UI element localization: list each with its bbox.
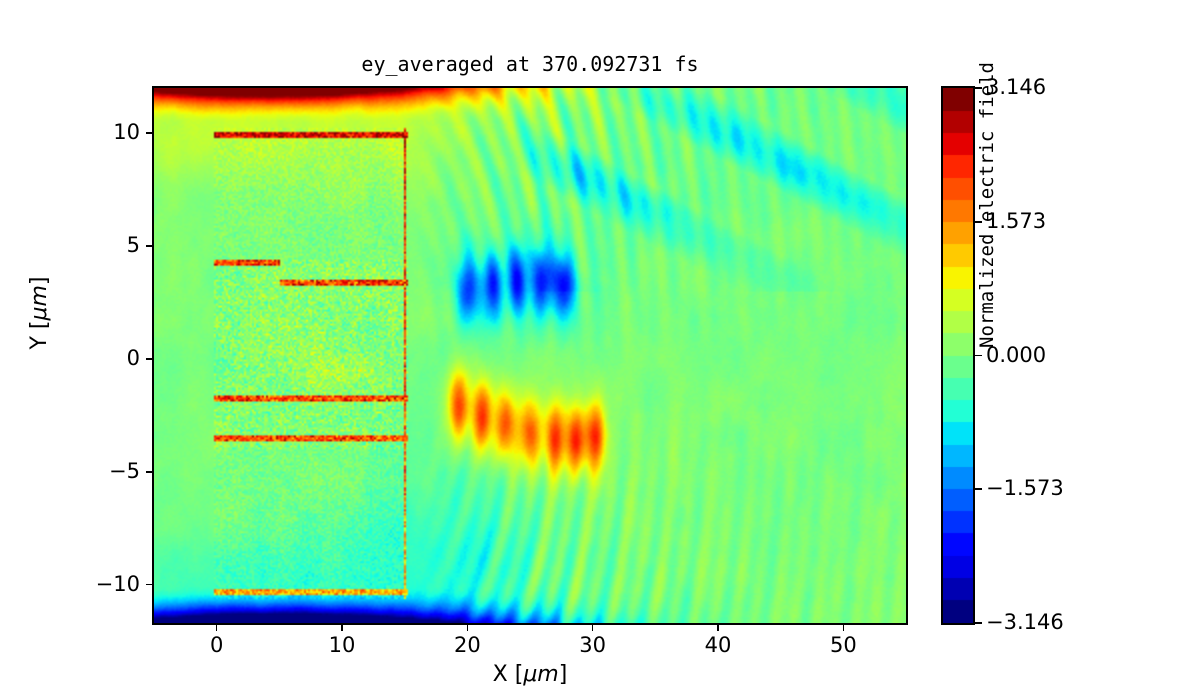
x-tick-label: 20 [427,633,507,658]
x-axis-label-suffix: ] [559,662,568,687]
colorbar-tick-mark [975,622,982,624]
x-tick-label: 10 [302,633,382,658]
colorbar-tick-label: −1.573 [986,476,1064,501]
field-heatmap-image[interactable] [154,88,906,623]
y-tick-mark [146,471,152,473]
y-axis-label-prefix: Y [ [27,321,52,350]
colorbar-tick-label: −3.146 [986,610,1064,635]
x-axis-label-prefix: X [ [493,662,524,687]
x-tick-label: 30 [553,633,633,658]
y-axis-label-suffix: ] [27,276,52,285]
x-tick-mark [341,625,343,631]
y-tick-label: 5 [46,233,140,258]
x-tick-mark [592,625,594,631]
y-tick-label: −10 [46,572,140,597]
x-tick-mark [467,625,469,631]
x-tick-label: 0 [177,633,257,658]
y-tick-label: 10 [46,120,140,145]
x-tick-label: 40 [678,633,758,658]
x-tick-mark [216,625,218,631]
y-tick-label: 0 [46,346,140,371]
colorbar[interactable] [941,86,975,625]
heatmap-axes[interactable] [152,86,908,625]
colorbar-axis-label: Normalized electric field [976,55,999,355]
page-title: ey_averaged at 370.092731 fs [152,52,908,76]
x-tick-mark [843,625,845,631]
y-tick-mark [146,132,152,134]
colorbar-gradient[interactable] [943,88,973,623]
x-tick-mark [717,625,719,631]
y-tick-label: −5 [46,459,140,484]
y-tick-mark [146,358,152,360]
colorbar-tick-mark [975,488,982,490]
y-tick-mark [146,245,152,247]
y-axis-label: Y [μm] [27,213,53,413]
figure-canvas: ey_averaged at 370.092731 fs 01020304050… [0,0,1200,700]
y-axis-label-unit: μm [27,285,52,320]
y-tick-mark [146,584,152,586]
x-axis-label: X [μm] [152,662,908,688]
x-axis-label-unit: μm [523,662,558,687]
x-tick-label: 50 [803,633,883,658]
